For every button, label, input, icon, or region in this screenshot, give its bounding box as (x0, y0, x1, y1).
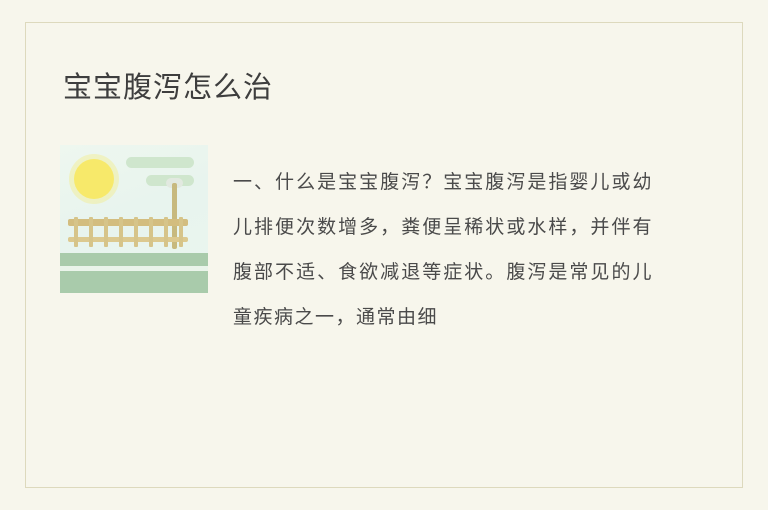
article-body: 一、什么是宝宝腹泻？宝宝腹泻是指婴儿或幼儿排便次数增多，粪便呈稀状或水样，并伴有… (233, 160, 653, 340)
fence-picket (149, 217, 153, 247)
fence-picket (89, 217, 93, 247)
fence-rail-upper (68, 219, 188, 226)
fence-picket (74, 217, 78, 247)
fence-picket (134, 217, 138, 247)
ground-band-lower (60, 271, 208, 293)
sun-icon (74, 159, 114, 199)
page-title: 宝宝腹泻怎么治 (63, 68, 273, 108)
fence-rail-lower (68, 237, 188, 242)
document-page: 宝宝腹泻怎么治 一、什么是宝宝腹泻？宝宝腹泻是指婴儿或幼儿排便次数增多，粪便呈稀… (0, 0, 768, 510)
cloud-icon-upper (126, 157, 194, 168)
article-illustration (60, 145, 208, 293)
ground-band-upper (60, 253, 208, 266)
fence-picket (179, 217, 183, 247)
fence-picket (164, 217, 168, 247)
fence-picket (119, 217, 123, 247)
fence-picket (104, 217, 108, 247)
